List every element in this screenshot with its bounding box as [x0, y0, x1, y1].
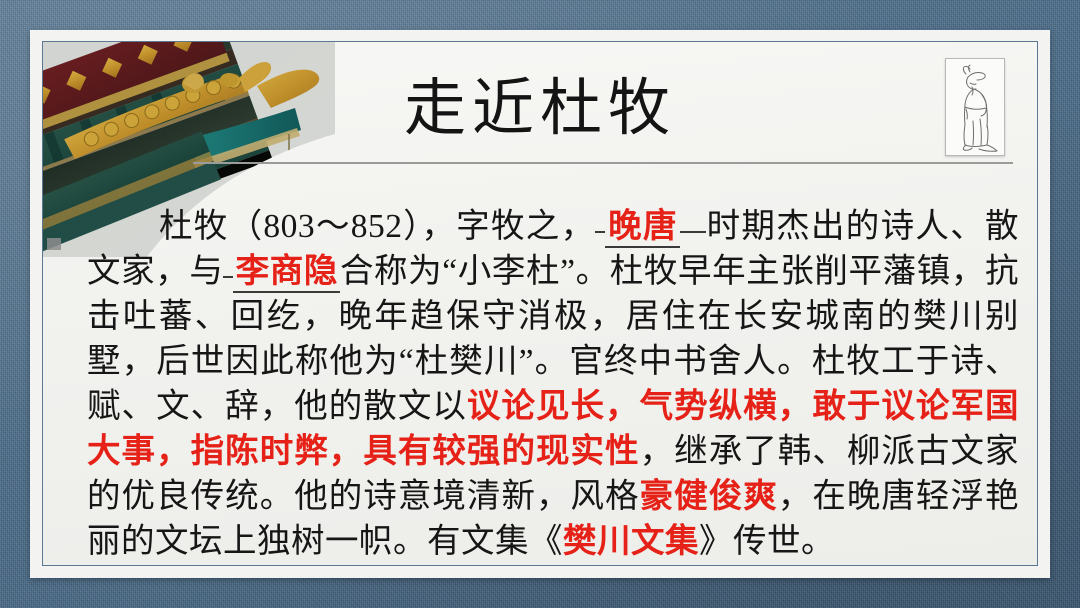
bio-segment-10: 》传世。	[699, 523, 835, 560]
blank-underline-lead	[595, 231, 605, 233]
card-surface: 走近杜牧	[43, 42, 1037, 565]
fill-in-blank-answer-2: 李商隐	[233, 253, 339, 293]
fill-in-blank-answer-1: 晚唐	[605, 208, 679, 248]
blank-underline-lead-2	[223, 276, 233, 278]
title-underline-rule	[193, 162, 1013, 164]
bio-segment-0: 杜牧（803～852），字牧之，	[159, 208, 595, 245]
blank-underline-tail	[680, 231, 706, 233]
biography-paragraph: 杜牧（803～852），字牧之，晚唐时期杰出的诗人、散文家，与李商隐合称为“小李…	[87, 204, 1019, 564]
highlight-collection-title: 樊川文集	[563, 523, 699, 560]
du-mu-scholar-line-drawing	[945, 58, 1005, 156]
slide-content-card: 走近杜牧	[30, 30, 1050, 578]
slide-background: 走近杜牧	[0, 0, 1080, 608]
highlight-poetic-style: 豪健俊爽	[640, 478, 778, 515]
page-title: 走近杜牧	[43, 72, 1037, 146]
